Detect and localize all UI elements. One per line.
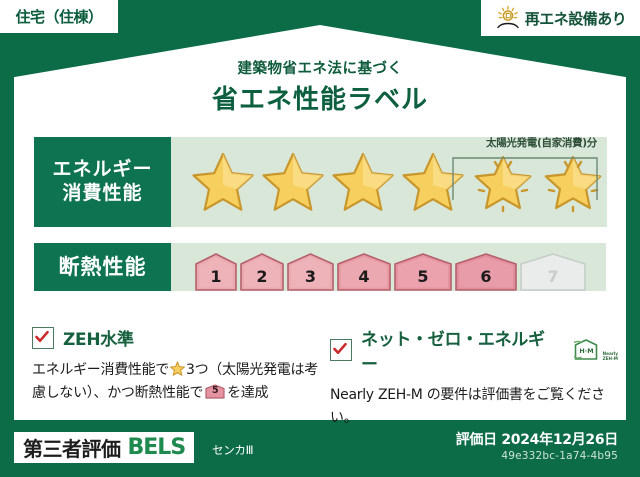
- energy-performance-label: 住宅（住棟） 再エネ設備あり 建築物省エネ法に基づく: [0, 0, 640, 477]
- insulation-badge: 1: [195, 253, 237, 291]
- insulation-badge-list: 1 2 3 4 5: [171, 243, 586, 291]
- insulation-badge-value: 1: [210, 267, 221, 291]
- inline-star-icon: [170, 361, 185, 376]
- svg-text:H·M: H·M: [579, 347, 593, 355]
- star-icon: [329, 149, 397, 215]
- bels-en-label: BELS: [128, 435, 186, 460]
- inline-badge-value: 5: [205, 384, 225, 399]
- label-footer: 第三者評価 BELS センカⅢ 評価日 2024年12月26日 49e332bc…: [0, 420, 640, 477]
- insulation-badge: 2: [240, 253, 284, 291]
- nze-header: ネット・ゼロ・エネルギー H·M NearlyZEH-M: [330, 325, 618, 375]
- property-name: センカⅢ: [212, 442, 253, 458]
- nze-checkbox: [330, 339, 352, 361]
- inline-insulation-badge: 5: [205, 384, 225, 399]
- insulation-badge-value: 2: [256, 267, 267, 291]
- zeh-section: ZEH水準 エネルギー消費性能で3つ（太陽光発電は考慮しない）、かつ断熱性能で5…: [32, 325, 322, 404]
- page-title: 省エネ性能ラベル: [0, 79, 640, 116]
- bels-badge: 第三者評価 BELS: [14, 432, 194, 463]
- insulation-badge-value: 7: [547, 267, 558, 291]
- nze-title: ネット・ゼロ・エネルギー: [361, 325, 561, 375]
- energy-label-line2: 消費性能: [62, 182, 142, 206]
- star-rating: [171, 149, 607, 215]
- star-icon-solar: [469, 149, 537, 215]
- insulation-badge: 4: [337, 253, 391, 291]
- insulation-badge: 3: [287, 253, 334, 291]
- insulation-label-box: 断熱性能: [34, 243, 171, 291]
- evaluation-date: 評価日 2024年12月26日: [456, 429, 618, 449]
- zeh-header: ZEH水準: [32, 325, 322, 350]
- insulation-badge-inactive: 7: [520, 253, 586, 291]
- star-icon: [399, 149, 467, 215]
- energy-performance-label-box: エネルギー 消費性能: [34, 137, 171, 227]
- star-icon: [259, 149, 327, 215]
- building-type-badge: 住宅（住棟）: [0, 0, 118, 33]
- insulation-badge-value: 3: [305, 267, 316, 291]
- star-icon: [189, 149, 257, 215]
- zeh-m-logo-icon: H·M NearlyZEH-M: [574, 337, 618, 363]
- zeh-body-part3: を達成: [227, 385, 268, 401]
- check-icon: [332, 341, 348, 357]
- insulation-badge: 5: [394, 253, 452, 291]
- energy-label-line1: エネルギー: [52, 158, 152, 182]
- evaluation-id: 49e332bc-1a74-4b95: [501, 450, 618, 462]
- sun-renewable-icon: [495, 5, 521, 31]
- insulation-rating-area: 1 2 3 4 5: [171, 243, 606, 291]
- check-icon: [34, 329, 50, 345]
- label-subtitle: 建築物省エネ法に基づく: [0, 57, 640, 78]
- insulation-label: 断熱性能: [59, 254, 147, 280]
- energy-rating-area: 太陽光発電(自家消費)分: [171, 137, 607, 227]
- zeh-body-part1: エネルギー消費性能で: [32, 362, 169, 378]
- zeh-description: エネルギー消費性能で3つ（太陽光発電は考慮しない）、かつ断熱性能で5を達成: [32, 359, 322, 404]
- insulation-performance-row: 断熱性能 1 2 3 4: [34, 243, 606, 291]
- bels-jp-label: 第三者評価: [23, 433, 121, 462]
- insulation-badge: 6: [455, 253, 517, 291]
- star-icon-solar: [539, 149, 607, 215]
- renewable-energy-label: 再エネ設備あり: [525, 8, 627, 29]
- insulation-badge-value: 5: [417, 267, 428, 291]
- net-zero-energy-section: ネット・ゼロ・エネルギー H·M NearlyZEH-M Nearly ZEH-…: [330, 325, 618, 429]
- insulation-badge-value: 4: [358, 267, 369, 291]
- zeh-checkbox: [32, 327, 54, 349]
- zeh-m-logo-sublabel: NearlyZEH-M: [603, 352, 618, 362]
- zeh-title: ZEH水準: [63, 325, 134, 350]
- solar-caption: 太陽光発電(自家消費)分: [486, 135, 597, 150]
- insulation-badge-value: 6: [480, 267, 491, 291]
- renewable-energy-badge: 再エネ設備あり: [481, 0, 640, 36]
- energy-performance-row: エネルギー 消費性能: [34, 137, 606, 227]
- building-type-label: 住宅（住棟）: [15, 6, 102, 27]
